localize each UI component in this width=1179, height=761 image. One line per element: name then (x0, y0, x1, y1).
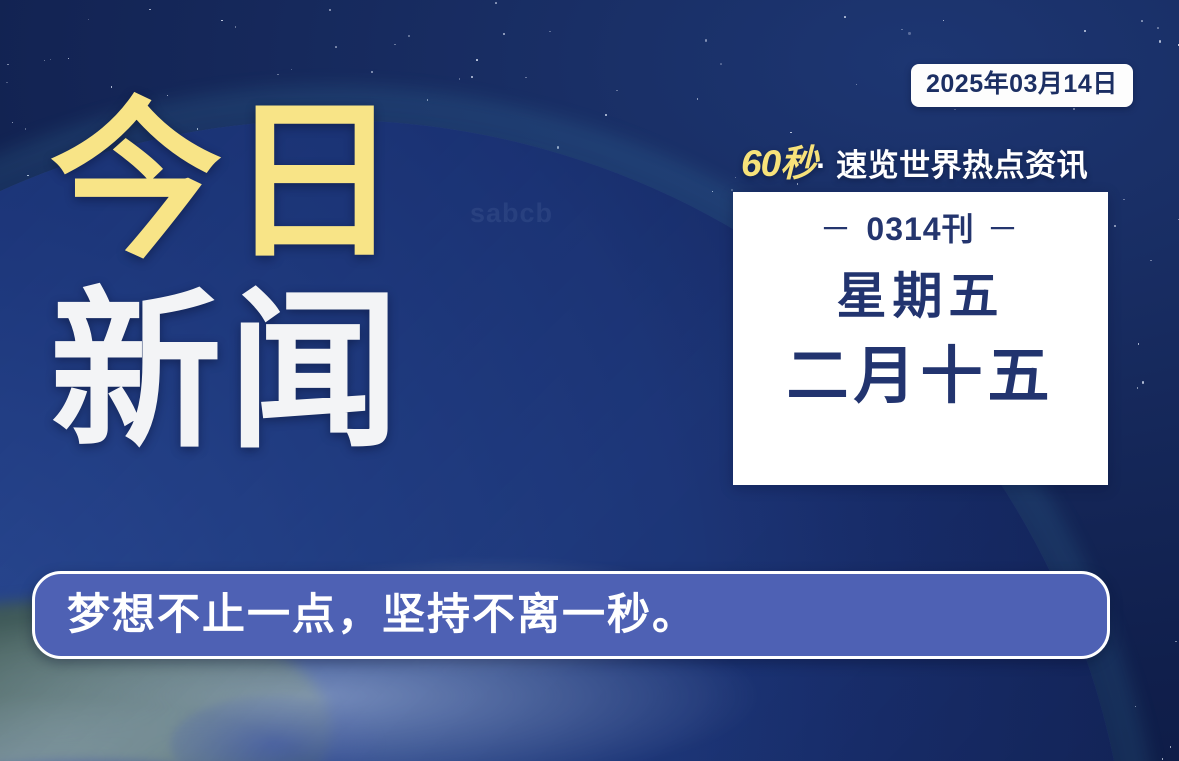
star (661, 221, 663, 223)
star (335, 46, 337, 48)
star (7, 64, 9, 66)
star (291, 69, 293, 71)
star (829, 502, 831, 504)
star (136, 546, 138, 548)
star (1084, 30, 1086, 32)
news-poster: 今日 新闻 sabcb 2025年03月14日 60秒· 速览世界热点资讯 － … (0, 0, 1179, 761)
star (503, 33, 505, 35)
star (582, 567, 584, 569)
star (670, 738, 672, 740)
star (419, 350, 421, 352)
star (27, 175, 29, 177)
star (6, 82, 8, 84)
star (418, 284, 420, 286)
star (886, 759, 888, 761)
star (558, 319, 560, 321)
star (823, 543, 825, 545)
star (592, 402, 594, 404)
star (901, 29, 903, 31)
star (1150, 260, 1152, 262)
star (329, 9, 331, 11)
star (361, 500, 363, 502)
star (817, 666, 821, 670)
issue-info-card: － 0314刊 － 星期五 二月十五 (733, 192, 1108, 485)
star (943, 20, 945, 22)
star (555, 494, 557, 496)
star (515, 489, 522, 496)
star (167, 705, 169, 707)
star (112, 699, 114, 701)
star (672, 511, 674, 513)
star (213, 514, 215, 516)
star (647, 696, 649, 698)
star (761, 687, 763, 689)
star (546, 262, 548, 264)
quote-text: 梦想不止一点，坚持不离一秒。 (67, 590, 697, 640)
star (980, 510, 982, 512)
star (1069, 726, 1071, 728)
star (549, 31, 551, 33)
star (416, 286, 423, 293)
star (499, 169, 501, 171)
star (726, 541, 728, 543)
star (277, 500, 279, 502)
star (504, 490, 508, 494)
water-black-sea (170, 696, 378, 761)
star (221, 20, 223, 22)
star (1175, 641, 1177, 643)
tagline-rest: · 速览世界热点资讯 (816, 148, 1088, 183)
star (637, 709, 644, 716)
star (430, 698, 434, 702)
page-title-line-2: 新闻 (50, 286, 406, 458)
star (44, 60, 46, 62)
star (720, 63, 722, 65)
star (832, 565, 834, 567)
star (520, 426, 522, 428)
issue-prefix-dash: － (819, 211, 854, 247)
star (1073, 108, 1075, 110)
star (607, 411, 609, 413)
star (525, 77, 527, 79)
star (277, 74, 279, 76)
star (29, 376, 31, 378)
star (203, 670, 205, 672)
star (965, 744, 967, 746)
star (244, 508, 246, 510)
star (1123, 199, 1125, 201)
star (326, 663, 328, 665)
star (607, 706, 609, 708)
star (394, 44, 396, 46)
star (856, 84, 858, 86)
star (731, 189, 733, 191)
star (370, 676, 372, 678)
tagline: 60秒· 速览世界热点资讯 (741, 145, 1088, 185)
star (11, 397, 13, 399)
star (43, 453, 45, 455)
star (605, 114, 607, 116)
star (1141, 20, 1143, 22)
star (735, 177, 737, 179)
star (699, 525, 701, 527)
tagline-seconds: 60秒 (741, 143, 816, 184)
star (687, 694, 689, 696)
star (581, 448, 583, 450)
star (427, 99, 429, 101)
star (53, 707, 55, 709)
star (863, 489, 867, 493)
star (41, 754, 43, 756)
lunar-date-label: 二月十五 (786, 341, 1054, 413)
issue-line: － 0314刊 － (819, 209, 1021, 249)
star (944, 493, 946, 495)
star (35, 420, 37, 422)
star (697, 98, 699, 100)
star (43, 197, 45, 199)
watermark-text: sabcb (470, 198, 553, 229)
star (951, 731, 953, 733)
star (486, 447, 488, 449)
star (677, 693, 679, 695)
star (844, 16, 846, 18)
star (550, 525, 557, 532)
star (283, 488, 285, 490)
star (1135, 706, 1137, 708)
star (624, 259, 626, 261)
star (531, 421, 533, 423)
star (147, 749, 149, 751)
star (418, 217, 420, 219)
star (459, 78, 461, 80)
star (809, 519, 811, 521)
star (633, 725, 635, 727)
star (68, 58, 70, 60)
star (568, 178, 570, 180)
star (747, 665, 749, 667)
star (637, 260, 639, 262)
star (1114, 225, 1116, 227)
quote-bar: 梦想不止一点，坚持不离一秒。 (32, 571, 1110, 659)
star (641, 744, 643, 746)
star (805, 752, 807, 754)
star (635, 408, 637, 410)
star (88, 19, 90, 21)
page-title: 今日 新闻 (50, 96, 406, 458)
star (326, 536, 330, 540)
star (348, 721, 350, 723)
star (1170, 746, 1172, 748)
star (488, 758, 490, 760)
star (849, 491, 851, 493)
star (149, 9, 151, 11)
star (408, 35, 410, 37)
star (476, 59, 478, 61)
star (629, 404, 631, 406)
star (879, 495, 881, 497)
star (628, 726, 630, 728)
star (1031, 694, 1033, 696)
star (384, 560, 386, 562)
weekday-label: 星期五 (837, 267, 1005, 325)
star (969, 556, 971, 558)
star (371, 71, 373, 73)
star (504, 536, 506, 538)
star (814, 694, 816, 696)
star (616, 90, 618, 92)
star (557, 146, 559, 148)
star (563, 662, 565, 664)
star (790, 132, 792, 134)
star (137, 539, 139, 541)
star (12, 551, 14, 553)
star (426, 755, 428, 757)
star (712, 191, 714, 193)
star (29, 333, 31, 335)
issue-number: 0314刊 (866, 211, 974, 247)
star (92, 549, 94, 551)
star (1041, 691, 1043, 693)
star (421, 451, 425, 455)
star (213, 727, 215, 729)
star (721, 345, 723, 347)
star (45, 179, 47, 181)
star (176, 679, 178, 681)
page-title-line-1: 今日 (50, 96, 406, 268)
star (628, 430, 630, 432)
star (540, 496, 542, 498)
star (769, 521, 773, 525)
star (1138, 343, 1140, 345)
star (908, 32, 910, 34)
star (954, 109, 956, 111)
star (347, 564, 349, 566)
star (50, 59, 52, 61)
star (459, 715, 461, 717)
star (12, 122, 14, 124)
star (576, 755, 578, 757)
star (1137, 387, 1139, 389)
star (726, 344, 728, 346)
star (1142, 381, 1144, 383)
star (812, 754, 814, 756)
date-badge: 2025年03月14日 (911, 64, 1133, 107)
star (705, 39, 707, 41)
star (1157, 27, 1159, 29)
star (572, 238, 574, 240)
issue-suffix-dash: － (986, 211, 1021, 247)
star (32, 288, 34, 290)
star (1159, 40, 1161, 42)
star (536, 184, 538, 186)
star (861, 711, 863, 713)
star (138, 558, 140, 560)
star (200, 545, 202, 547)
star (428, 740, 430, 742)
star (25, 128, 27, 130)
star (1162, 758, 1164, 760)
star (665, 734, 667, 736)
star (471, 76, 473, 78)
star (503, 466, 505, 468)
star (229, 488, 231, 490)
star (39, 240, 41, 242)
star (675, 336, 677, 338)
star (495, 2, 497, 4)
star (235, 26, 237, 28)
star (449, 258, 451, 260)
